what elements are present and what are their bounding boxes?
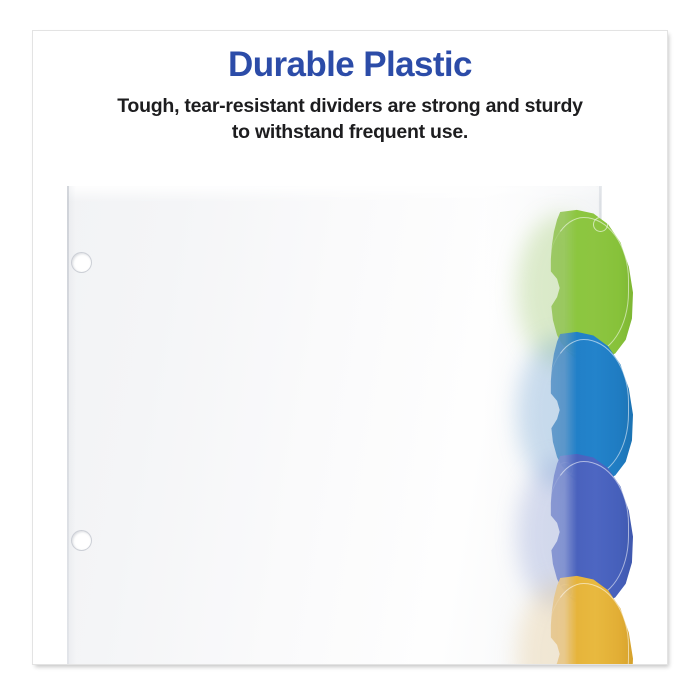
page-subtitle-line-2: to withstand frequent use. bbox=[70, 119, 630, 145]
plastic-divider-sheet bbox=[67, 186, 601, 665]
page-subtitle-line-1: Tough, tear-resistant dividers are stron… bbox=[70, 93, 630, 119]
page-subtitle: Tough, tear-resistant dividers are stron… bbox=[70, 93, 630, 146]
headline-block: Durable Plastic Tough, tear-resistant di… bbox=[33, 47, 667, 145]
sheet-top-bevel bbox=[67, 186, 601, 202]
sheet-sheen-overlay bbox=[67, 186, 601, 665]
sheet-left-edge bbox=[67, 186, 69, 665]
page-title: Durable Plastic bbox=[33, 47, 667, 84]
top-punch-hole bbox=[72, 253, 91, 272]
product-image-frame: Durable Plastic Tough, tear-resistant di… bbox=[32, 30, 668, 665]
bottom-punch-hole bbox=[72, 531, 91, 550]
product-image-canvas: Durable Plastic Tough, tear-resistant di… bbox=[0, 0, 700, 700]
